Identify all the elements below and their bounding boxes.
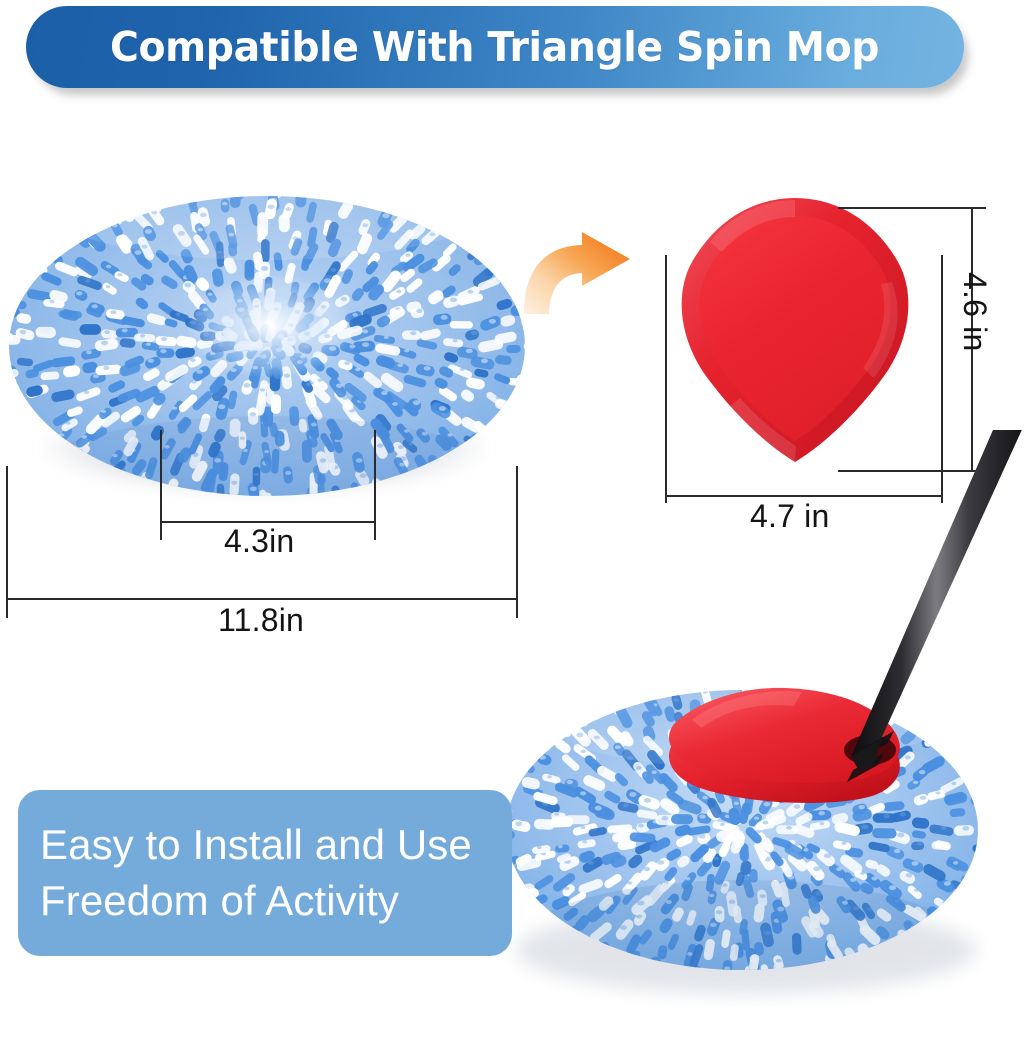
header-banner: Compatible With Triangle Spin Mop: [26, 6, 964, 88]
dim-118-line: [6, 598, 517, 600]
dim-118-label: 11.8in: [218, 602, 304, 639]
assembled-mop-image: [470, 430, 1024, 1036]
dim-43-label: 4.3in: [224, 523, 294, 560]
callout-line-2: Freedom of Activity: [40, 873, 512, 929]
dim-43-tick-left: [160, 430, 162, 540]
dim-43-tick-right: [374, 430, 376, 540]
infographic-canvas: Compatible With Triangle Spin Mop: [0, 0, 1024, 1036]
banner-title: Compatible With Triangle Spin Mop: [110, 23, 879, 71]
callout-line-1: Easy to Install and Use: [40, 817, 512, 873]
feature-callout-box: Easy to Install and Use Freedom of Activ…: [18, 790, 512, 956]
mop-pad-image: [2, 186, 532, 516]
dim-46-label: 4.6 in: [956, 272, 993, 351]
mop-pole: [847, 430, 1024, 782]
dim-118-tick-left: [6, 466, 8, 618]
mop-pad-graphic: [2, 186, 532, 516]
dim-46-tick-top: [838, 207, 986, 209]
curved-arrow-right-icon: [518, 228, 638, 320]
